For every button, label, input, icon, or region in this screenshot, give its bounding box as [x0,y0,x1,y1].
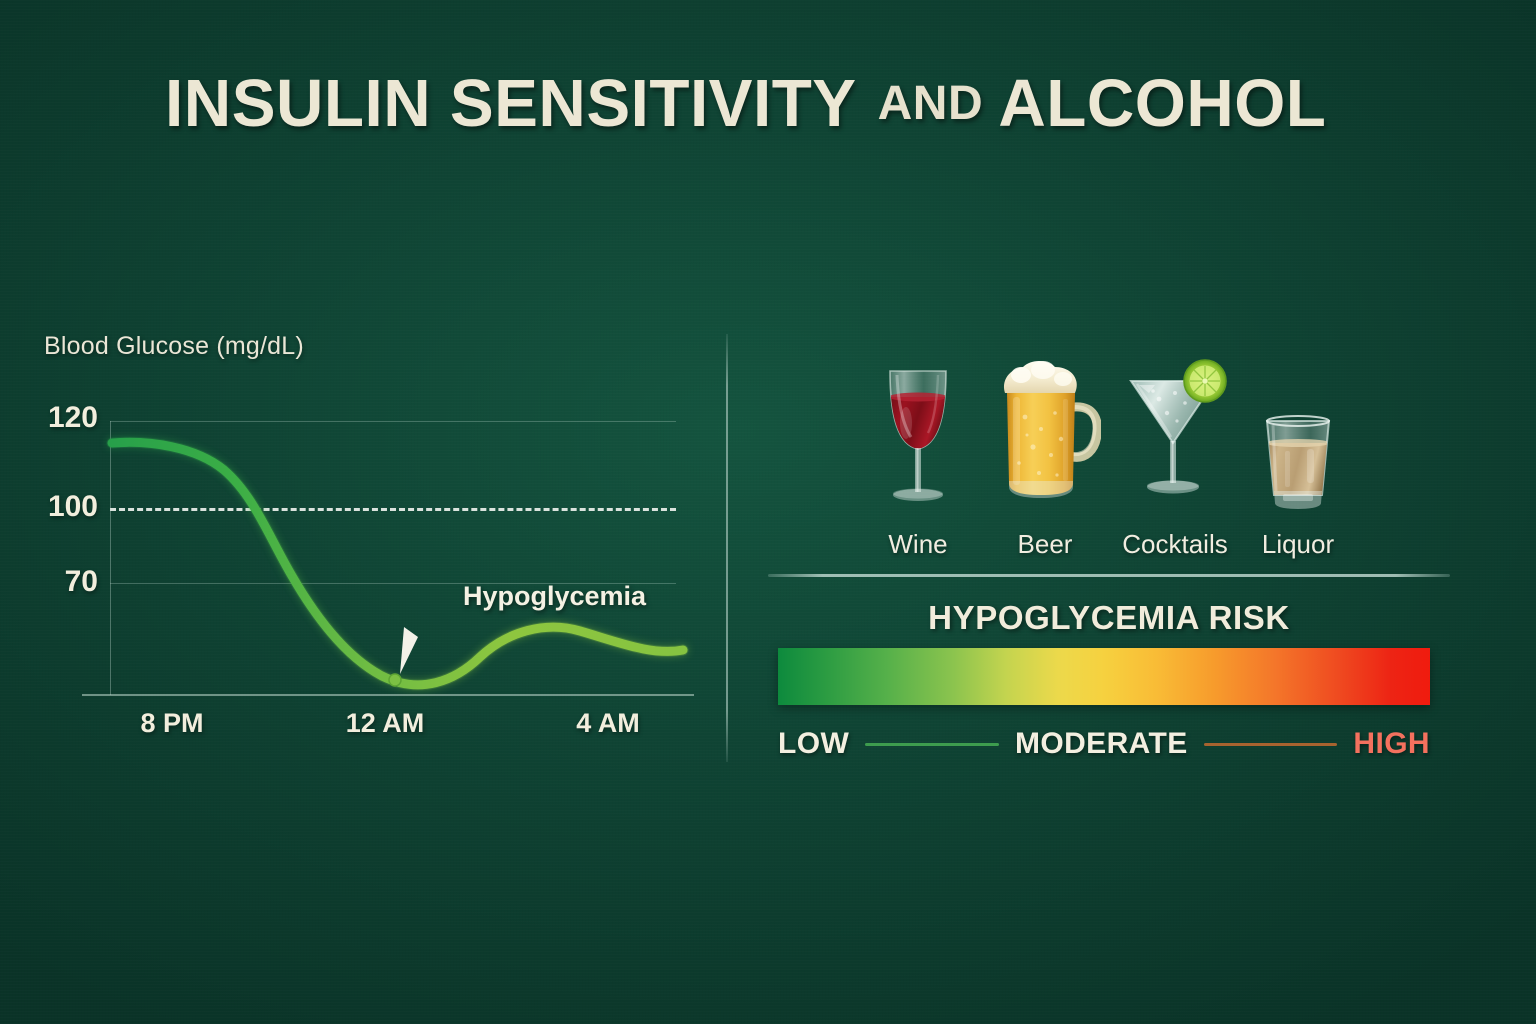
drink-label-liquor: Liquor [1262,529,1334,560]
drink-item-cocktails[interactable]: Cocktails [1112,330,1238,560]
page-title: INSULIN SENSITIVITY AND ALCOHOL [158,62,1378,144]
title-part-conjunction: AND [864,76,996,131]
x-tick-12am: 12 AM [346,708,425,739]
drink-label-cocktails: Cocktails [1122,529,1227,560]
risk-section-divider [768,574,1450,577]
risk-scale-labels: LOW MODERATE HIGH [778,726,1430,762]
drink-label-beer: Beer [1018,529,1073,560]
shot-glass-icon [1249,395,1347,520]
hypoglycemia-marker [389,674,401,686]
panel-divider [726,334,728,762]
x-tick-8pm: 8 PM [140,708,203,739]
drinks-row: Wine [840,330,1360,560]
glucose-chart-panel: Blood Glucose (mg/dL) 120 100 70 [0,300,720,770]
risk-connector-moderate-high [1204,743,1338,746]
hypoglycemia-annotation-label: Hypoglycemia [463,581,646,612]
risk-label-high: HIGH [1353,727,1430,761]
drink-item-wine[interactable]: Wine [858,330,978,560]
x-tick-4am: 4 AM [576,708,640,739]
glucose-curve [0,300,720,770]
risk-connector-low-moderate [865,743,999,746]
risk-label-low: LOW [778,727,849,761]
title-part-primary: INSULIN SENSITIVITY [165,65,857,142]
risk-section-heading: HYPOGLYCEMIA RISK [768,599,1450,637]
risk-label-moderate: MODERATE [1015,727,1188,761]
drink-item-liquor[interactable]: Liquor [1240,330,1356,560]
drink-label-wine: Wine [888,529,947,560]
drink-item-beer[interactable]: Beer [982,330,1108,560]
beer-mug-icon [989,355,1101,520]
risk-gradient-bar [778,648,1430,705]
wine-glass-icon [870,355,966,520]
martini-glass-icon [1119,355,1231,520]
title-part-secondary: ALCOHOL [998,65,1326,142]
hypoglycemia-pointer-icon [400,627,418,674]
